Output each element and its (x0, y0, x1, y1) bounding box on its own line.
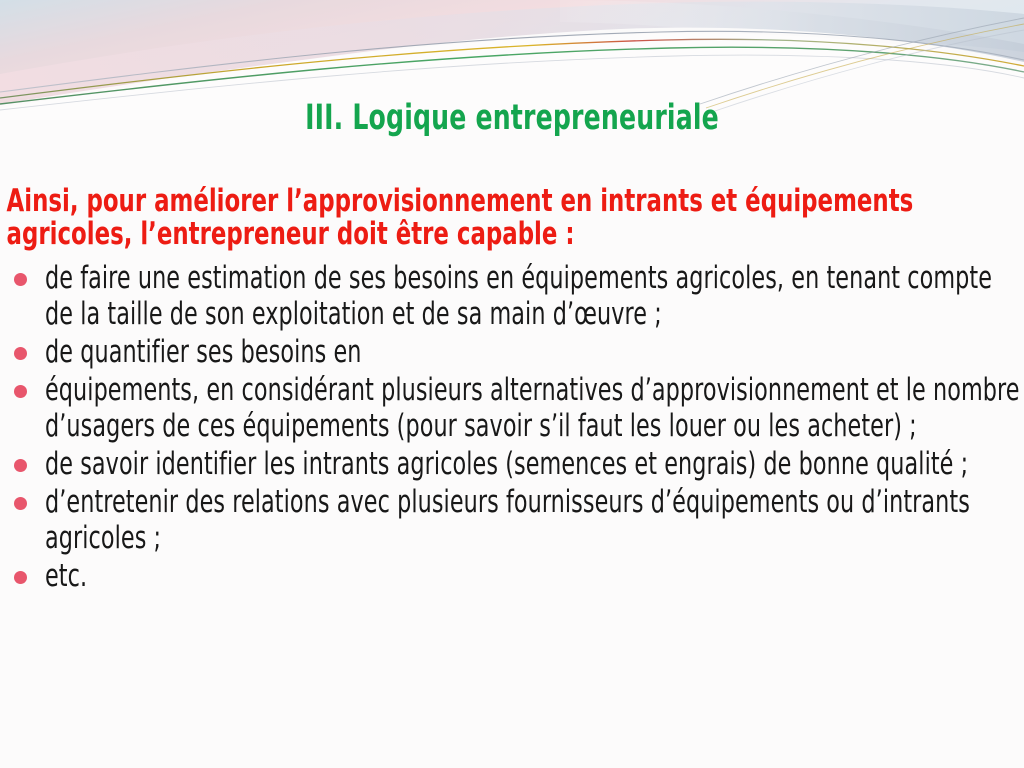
bullet-dot-icon (14, 571, 27, 584)
page-title: III. Logique entrepreneuriale (102, 97, 921, 139)
list-item-label: d’entretenir des relations avec plusieur… (45, 484, 1021, 556)
lead-in-paragraph: Ainsi, pour améliorer l’approvisionnemen… (0, 185, 1024, 251)
list-item: équipements, en considérant plusieurs al… (0, 372, 1024, 444)
bullet-dot-icon (14, 497, 27, 510)
list-item-label: de savoir identifier les intrants agrico… (45, 446, 1021, 482)
list-item: etc. (0, 558, 1024, 594)
bullet-dot-icon (14, 273, 27, 286)
list-item-label: de faire une estimation de ses besoins e… (45, 260, 1021, 332)
list-item: d’entretenir des relations avec plusieur… (0, 484, 1024, 556)
bullet-dot-icon (14, 347, 27, 360)
list-item-label: de quantifier ses besoins en (45, 334, 1021, 370)
slide-content: Ainsi, pour améliorer l’approvisionnemen… (0, 185, 1024, 596)
bullet-dot-icon (14, 459, 27, 472)
bullet-dot-icon (14, 385, 27, 398)
list-item: de faire une estimation de ses besoins e… (0, 260, 1024, 332)
presentation-slide: III. Logique entrepreneuriale Ainsi, pou… (0, 0, 1024, 768)
list-item-label: etc. (45, 558, 1021, 594)
bullet-list: de faire une estimation de ses besoins e… (0, 260, 1024, 594)
list-item: de quantifier ses besoins en (0, 334, 1024, 370)
list-item-label: équipements, en considérant plusieurs al… (45, 372, 1021, 444)
list-item: de savoir identifier les intrants agrico… (0, 446, 1024, 482)
